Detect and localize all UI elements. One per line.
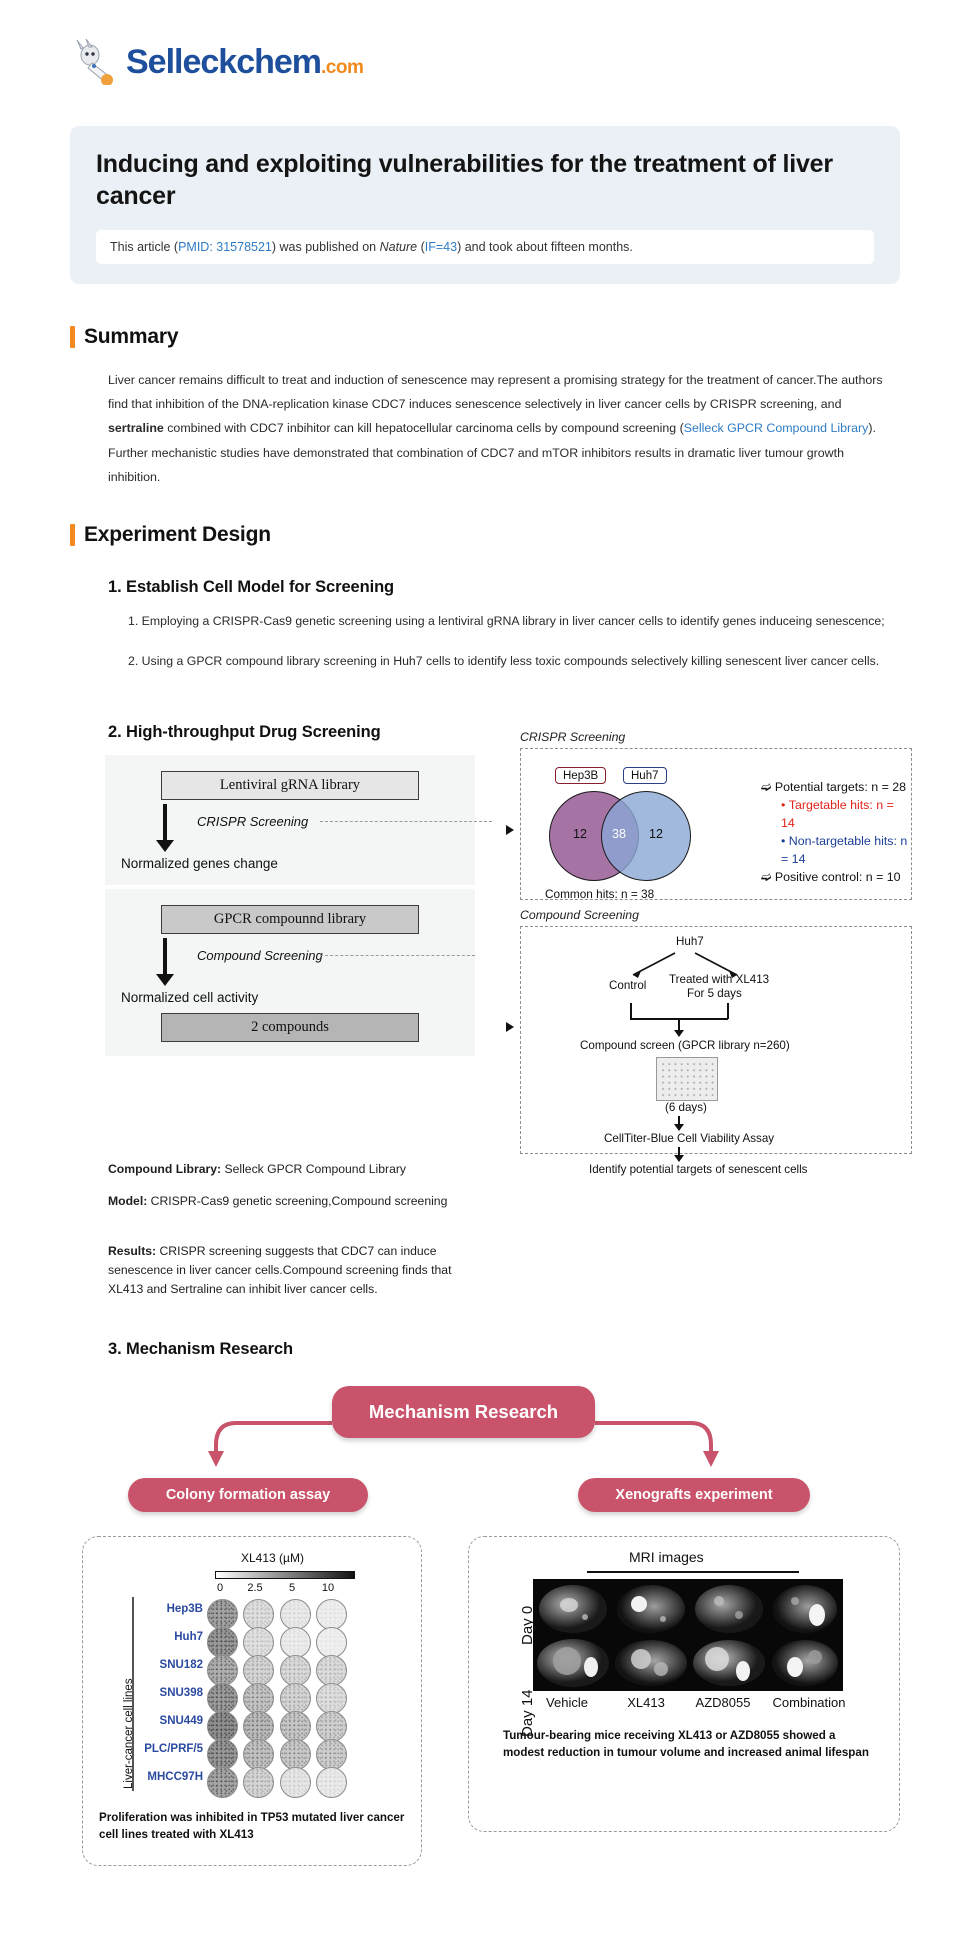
mri-panel-title: MRI images bbox=[629, 1549, 704, 1565]
node-compound-screen: Compound screen (GPCR library n=260) bbox=[580, 1039, 790, 1052]
screening-flowchart: Lentiviral gRNA library CRISPR Screening… bbox=[105, 755, 475, 1056]
note-mid: ) was published on bbox=[272, 240, 380, 254]
dose-label-10: 10 bbox=[315, 1582, 341, 1594]
colony-well bbox=[316, 1599, 347, 1630]
colony-well bbox=[243, 1711, 274, 1742]
bullet-non-targetable-hits-text: Non-targetable hits: n = 14 bbox=[781, 834, 907, 866]
colony-well bbox=[280, 1627, 311, 1658]
arrow-head-icon bbox=[156, 840, 174, 852]
colony-well bbox=[207, 1655, 238, 1686]
bullet-non-targetable-hits: • Non-targetable hits: n = 14 bbox=[761, 833, 911, 869]
logo-name: Selleckchem bbox=[126, 43, 321, 81]
logo-wordmark: Selleckchem.com bbox=[126, 45, 363, 79]
microplate-icon bbox=[656, 1057, 718, 1101]
colony-well bbox=[316, 1767, 347, 1798]
dose-gradient-bar bbox=[215, 1571, 355, 1579]
compound-arrow-label: Compound Screening bbox=[197, 948, 323, 963]
colony-well bbox=[207, 1711, 238, 1742]
colony-well bbox=[316, 1655, 347, 1686]
colony-well bbox=[280, 1711, 311, 1742]
row-label-hep3b: Hep3B bbox=[135, 1603, 203, 1615]
node-huh7: Huh7 bbox=[676, 935, 704, 948]
note-paren: ( bbox=[417, 240, 425, 254]
summary-paragraph: Liver cancer remains difficult to treat … bbox=[108, 368, 898, 489]
row-label-mhcc97h: MHCC97H bbox=[129, 1771, 203, 1783]
article-page: Selleckchem.com Inducing and exploiting … bbox=[0, 0, 971, 1952]
label-hep3b: Hep3B bbox=[555, 767, 606, 784]
step3-title: 3. Mechanism Research bbox=[108, 1340, 293, 1359]
mri-col-label-combination: Combination bbox=[757, 1695, 861, 1710]
row-label-snu182: SNU182 bbox=[135, 1659, 203, 1671]
compound-connector-line bbox=[320, 955, 475, 956]
mri-image-grid bbox=[533, 1579, 843, 1691]
pmid-link[interactable]: PMID: 31578521 bbox=[178, 240, 272, 254]
node-six-days: (6 days) bbox=[665, 1101, 707, 1114]
colony-well bbox=[207, 1599, 238, 1630]
meta-label-model: Model: bbox=[108, 1194, 147, 1208]
colony-well bbox=[316, 1627, 347, 1658]
crispr-screening-panel: Hep3B Huh7 12 38 12 Common hits: n = 38 … bbox=[520, 748, 912, 900]
colony-well bbox=[243, 1683, 274, 1714]
crispr-arrow-group: CRISPR Screening bbox=[105, 800, 475, 854]
xenograft-card: MRI images Day 0 Day 14 bbox=[468, 1536, 900, 1832]
accent-bar bbox=[70, 326, 75, 348]
label-huh7: Huh7 bbox=[623, 767, 667, 784]
mri-col-label-vehicle: Vehicle bbox=[527, 1695, 607, 1710]
publication-note: This article (PMID: 31578521) was publis… bbox=[96, 230, 874, 264]
node-treated-l1: Treated with XL413 bbox=[669, 973, 769, 986]
bracket-right-line bbox=[727, 1003, 729, 1019]
bullet-potential-targets-text: Potential targets: n = 28 bbox=[775, 780, 906, 794]
down-arrow-icon bbox=[163, 804, 167, 842]
colony-well bbox=[243, 1627, 274, 1658]
colony-axis-title: XL413 (µM) bbox=[241, 1551, 304, 1565]
flow-box-gRNA-library: Lentiviral gRNA library bbox=[161, 771, 419, 800]
microplate-wells bbox=[660, 1061, 714, 1097]
venn-diagram: Hep3B Huh7 12 38 12 Common hits: n = 38 bbox=[539, 767, 749, 895]
rabbit-scientist-icon bbox=[70, 39, 122, 85]
flow-result-genes: Normalized genes change bbox=[105, 856, 475, 871]
mri-scans-svg bbox=[533, 1579, 843, 1691]
summary-bold-term: sertraline bbox=[108, 421, 164, 435]
page-title: Inducing and exploiting vulnerabilities … bbox=[96, 148, 874, 212]
summary-heading: Summary bbox=[70, 325, 178, 349]
colony-well bbox=[316, 1711, 347, 1742]
meta-compound-library: Compound Library: Selleck GPCR Compound … bbox=[108, 1160, 463, 1179]
journal-name: Nature bbox=[380, 240, 418, 254]
node-assay: CellTiter-Blue Cell Viability Assay bbox=[604, 1132, 774, 1145]
bullet-positive-control: ➫ Positive control: n = 10 bbox=[761, 869, 911, 887]
node-treated-l2: For 5 days bbox=[687, 987, 742, 1000]
step1-item-1: 1. Employing a CRISPR-Cas9 genetic scree… bbox=[128, 612, 898, 632]
venn-footer-common-hits: Common hits: n = 38 bbox=[545, 887, 654, 901]
crispr-bullet-list: ➫ Potential targets: n = 28 • Targetable… bbox=[761, 779, 911, 887]
bullet-positive-control-text: Positive control: n = 10 bbox=[775, 870, 901, 884]
meta-label-compound-library: Compound Library: bbox=[108, 1162, 221, 1176]
arrow-head-icon bbox=[156, 974, 174, 986]
accent-bar bbox=[70, 524, 75, 546]
crispr-arrow-label: CRISPR Screening bbox=[197, 814, 308, 829]
down-arrow-icon bbox=[163, 938, 167, 976]
colony-formation-card: XL413 (µM) 0 2.5 5 10 Liver-cancer cell … bbox=[82, 1536, 422, 1866]
mri-title-rule bbox=[587, 1571, 799, 1573]
colony-well bbox=[243, 1655, 274, 1686]
row-label-plc-prf-5: PLC/PRF/5 bbox=[129, 1743, 203, 1755]
bullet-potential-targets: ➫ Potential targets: n = 28 bbox=[761, 779, 911, 797]
colony-well bbox=[243, 1599, 274, 1630]
flow-result-activity: Normalized cell activity bbox=[105, 990, 475, 1005]
colony-caption: Proliferation was inhibited in TP53 muta… bbox=[99, 1809, 409, 1844]
colony-well bbox=[280, 1655, 311, 1686]
flow-box-gpcr-library: GPCR compounnd library bbox=[161, 905, 419, 934]
row-label-huh7: Huh7 bbox=[135, 1631, 203, 1643]
pill-mechanism-research[interactable]: Mechanism Research bbox=[332, 1386, 595, 1438]
venn-count-center: 38 bbox=[612, 827, 626, 841]
colony-well bbox=[243, 1767, 274, 1798]
compound-screening-diagram: Huh7 Control Treated with XL413 For 5 da… bbox=[521, 927, 911, 1153]
note-prefix: This article ( bbox=[110, 240, 178, 254]
bracket-left-line bbox=[630, 1003, 632, 1019]
colony-well bbox=[207, 1627, 238, 1658]
compound-arrow-group: Compound Screening bbox=[105, 934, 475, 988]
step1-title: 1. Establish Cell Model for Screening bbox=[108, 578, 394, 597]
colony-well bbox=[207, 1767, 238, 1798]
arrow-head-icon bbox=[674, 1124, 684, 1131]
step1-item-2: 2. Using a GPCR compound library screeni… bbox=[128, 652, 898, 672]
colony-well bbox=[207, 1739, 238, 1770]
merge-arrow-head-icon bbox=[674, 1030, 684, 1037]
mri-col-label-azd8055: AZD8055 bbox=[681, 1695, 765, 1710]
row-label-snu449: SNU449 bbox=[135, 1715, 203, 1727]
logo-suffix: .com bbox=[321, 57, 363, 78]
summary-title: Summary bbox=[84, 325, 178, 349]
summary-part2: combined with CDC7 inbihitor can kill he… bbox=[164, 421, 684, 435]
mri-col-label-xl413: XL413 bbox=[607, 1695, 685, 1710]
flow-box-two-compounds: 2 compounds bbox=[161, 1013, 419, 1042]
compound-feed-arrow-icon bbox=[506, 1022, 514, 1032]
node-final: Identify potential targets of senescent … bbox=[589, 1163, 807, 1176]
bullet-targetable-hits: • Targetable hits: n = 14 bbox=[761, 797, 911, 833]
xenograft-caption: Tumour-bearing mice receiving XL413 or A… bbox=[503, 1727, 873, 1762]
venn-count-right: 12 bbox=[649, 827, 663, 841]
dose-label-0: 0 bbox=[207, 1582, 233, 1594]
article-header-card: Inducing and exploiting vulnerabilities … bbox=[70, 126, 900, 284]
impact-factor-link[interactable]: IF=43 bbox=[425, 240, 457, 254]
pill-colony-formation-assay[interactable]: Colony formation assay bbox=[128, 1478, 368, 1512]
pill-xenografts-experiment[interactable]: Xenografts experiment bbox=[578, 1478, 810, 1512]
site-logo[interactable]: Selleckchem.com bbox=[70, 36, 363, 88]
meta-value-compound-library: Selleck GPCR Compound Library bbox=[221, 1162, 406, 1176]
note-suffix: ) and took about fifteen months. bbox=[457, 240, 633, 254]
venn-count-left: 12 bbox=[573, 827, 587, 841]
node-control: Control bbox=[609, 979, 646, 992]
bullet-targetable-hits-text: Targetable hits: n = 14 bbox=[781, 798, 894, 830]
compound-flow-panel: GPCR compounnd library Compound Screenin… bbox=[105, 889, 475, 1056]
colony-well bbox=[280, 1739, 311, 1770]
experiment-design-heading: Experiment Design bbox=[70, 523, 271, 547]
meta-value-model: CRISPR-Cas9 genetic screening,Compound s… bbox=[147, 1194, 447, 1208]
colony-well bbox=[243, 1739, 274, 1770]
row-label-snu398: SNU398 bbox=[135, 1687, 203, 1699]
dose-label-2-5: 2.5 bbox=[242, 1582, 268, 1594]
meta-model: Model: CRISPR-Cas9 genetic screening,Com… bbox=[108, 1192, 463, 1211]
meta-value-results: CRISPR screening suggests that CDC7 can … bbox=[108, 1244, 451, 1296]
compound-library-link[interactable]: Selleck GPCR Compound Library bbox=[684, 421, 869, 435]
colony-well bbox=[280, 1767, 311, 1798]
dose-label-5: 5 bbox=[279, 1582, 305, 1594]
experiment-design-title: Experiment Design bbox=[84, 523, 271, 547]
summary-part1: Liver cancer remains difficult to treat … bbox=[108, 373, 883, 411]
compound-panel-title: Compound Screening bbox=[520, 908, 639, 922]
meta-results: Results: CRISPR screening suggests that … bbox=[108, 1242, 463, 1299]
step2-title: 2. High-throughput Drug Screening bbox=[108, 723, 381, 742]
crispr-feed-arrow-icon bbox=[506, 825, 514, 835]
colony-well bbox=[280, 1683, 311, 1714]
colony-well bbox=[316, 1683, 347, 1714]
meta-label-results: Results: bbox=[108, 1244, 156, 1258]
colony-well bbox=[280, 1599, 311, 1630]
arrow-head-icon bbox=[674, 1155, 684, 1162]
crispr-connector-line bbox=[320, 821, 492, 822]
colony-well bbox=[316, 1739, 347, 1770]
compound-screening-panel: Huh7 Control Treated with XL413 For 5 da… bbox=[520, 926, 912, 1154]
colony-well bbox=[207, 1683, 238, 1714]
crispr-panel-title: CRISPR Screening bbox=[520, 730, 625, 744]
crispr-flow-panel: Lentiviral gRNA library CRISPR Screening… bbox=[105, 755, 475, 885]
